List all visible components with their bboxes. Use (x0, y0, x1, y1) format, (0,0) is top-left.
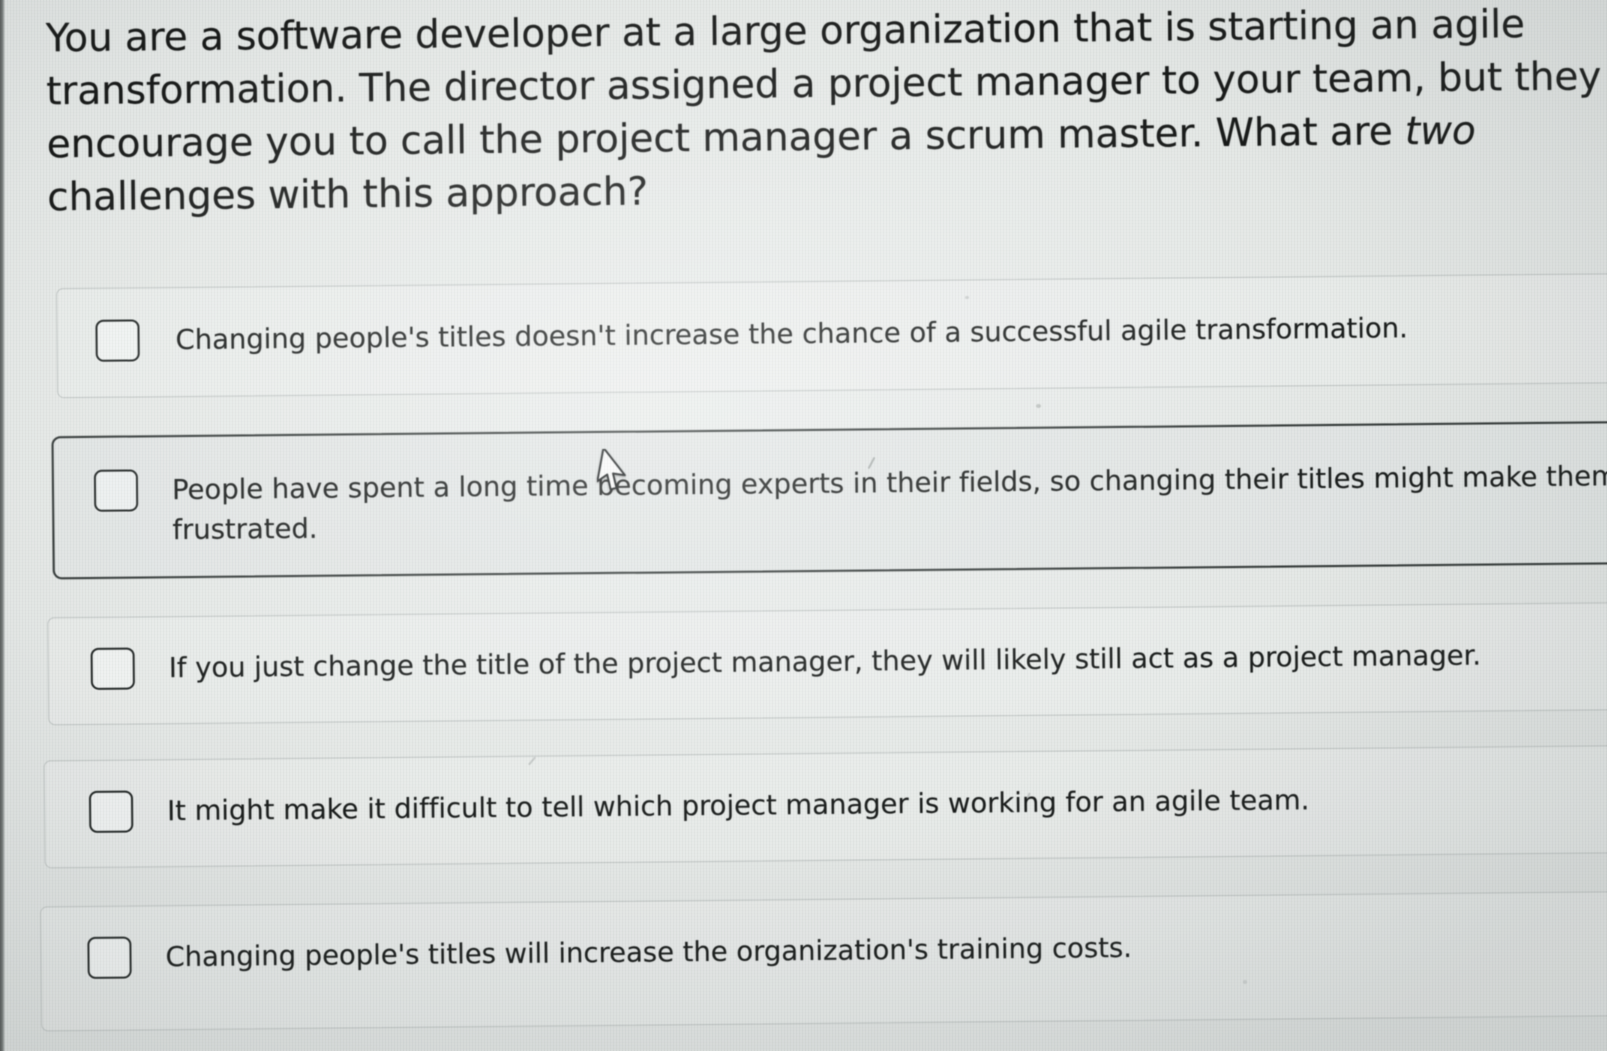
answer-option-4[interactable]: It might make it difficult to tell which… (44, 745, 1607, 868)
answer-option-3[interactable]: If you just change the title of the proj… (47, 602, 1607, 725)
checkbox-icon-option-1[interactable] (95, 319, 139, 361)
answer-option-label-2: People have spent a long time becoming e… (172, 456, 1607, 550)
checkbox-icon-option-4[interactable] (89, 791, 133, 833)
question-text-part-1: You are a software developer at a large … (45, 2, 1607, 167)
question-emphasis-two: two (1405, 109, 1476, 155)
screen-photo: You are a software developer at a large … (0, 0, 1607, 1051)
answer-option-label-3: If you just change the title of the proj… (169, 634, 1607, 688)
answer-option-label-5: Changing people's titles will increase t… (165, 923, 1607, 977)
answer-option-2[interactable]: People have spent a long time becoming e… (52, 421, 1607, 579)
checkbox-icon-option-3[interactable] (91, 648, 135, 690)
question-prompt: You are a software developer at a large … (45, 0, 1607, 224)
answer-option-label-4: It might make it difficult to tell which… (167, 777, 1607, 831)
answer-option-label-1: Changing people's titles doesn't increas… (175, 306, 1607, 360)
answer-option-5[interactable]: Changing people's titles will increase t… (40, 891, 1607, 1031)
checkbox-icon-option-2[interactable] (94, 469, 138, 511)
quiz-content: You are a software developer at a large … (0, 0, 1607, 1051)
answer-option-1[interactable]: Changing people's titles doesn't increas… (56, 273, 1607, 398)
checkbox-icon-option-5[interactable] (87, 937, 131, 979)
